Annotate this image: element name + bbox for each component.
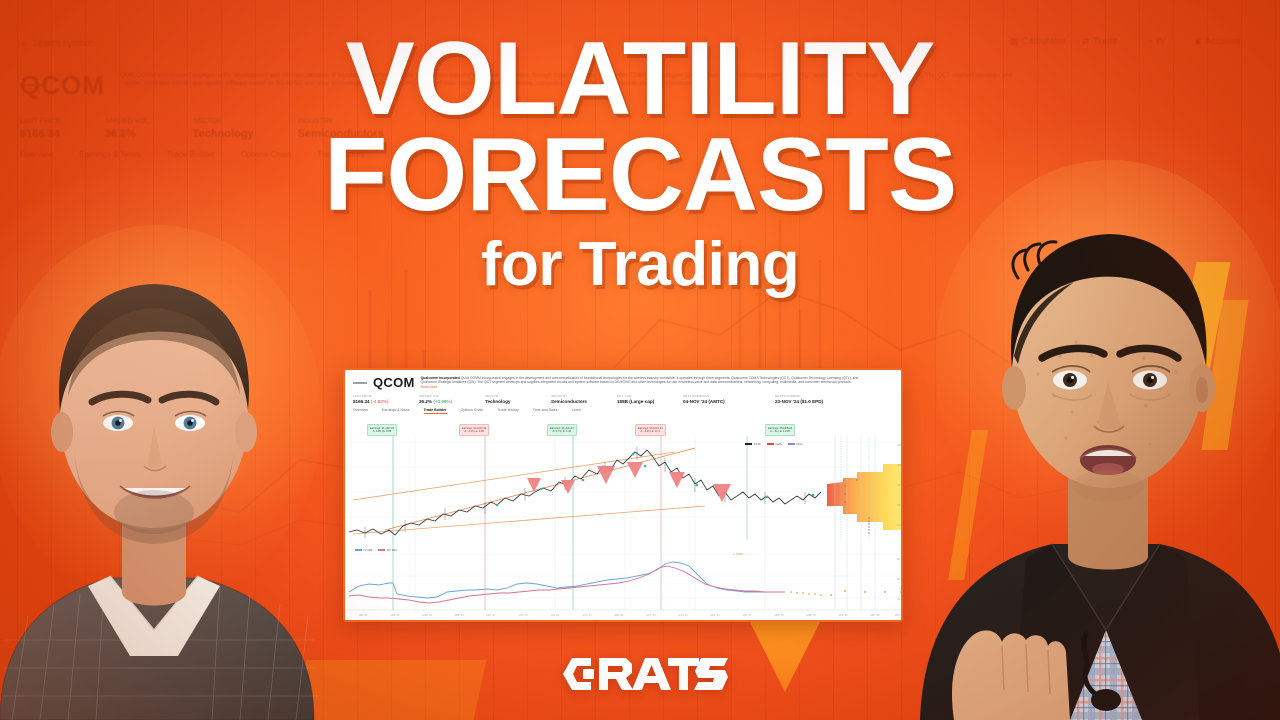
vignette-overlay xyxy=(0,0,1280,720)
thumbnail-canvas: ⌕ Search symbols QCOM QUALCOMM Incorpora… xyxy=(0,0,1280,720)
